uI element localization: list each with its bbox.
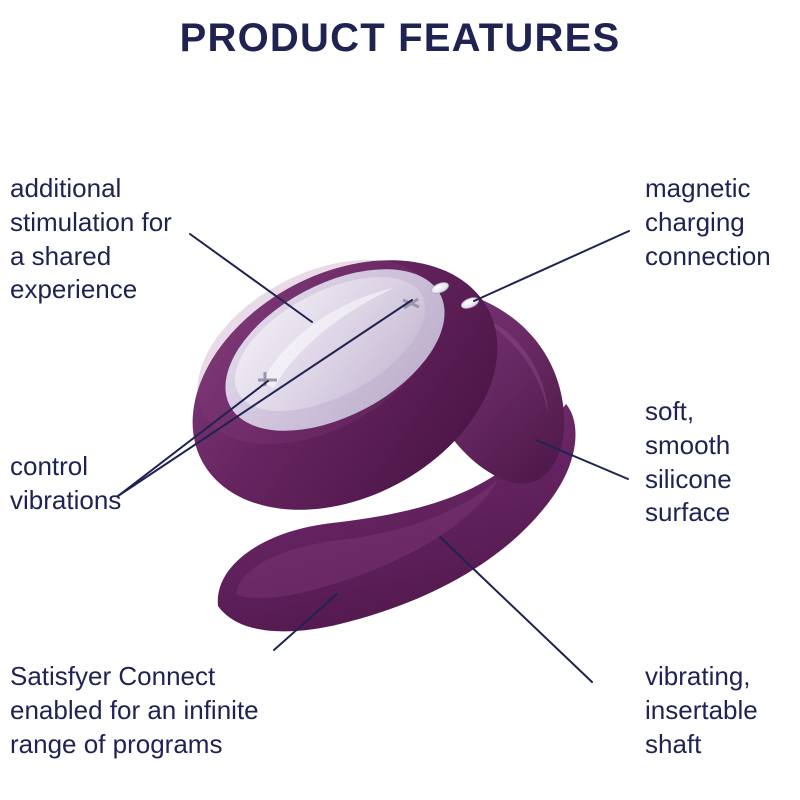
- callout-satisfyer-connect: Satisfyer Connect enabled for an infinit…: [10, 660, 340, 761]
- callout-vibrating-shaft: vibrating, insertable shaft: [645, 660, 800, 761]
- callout-additional-stimulation: additional stimulation for a shared expe…: [10, 172, 260, 307]
- callout-control-vibrations: control vibrations: [10, 450, 240, 518]
- callout-silicone-surface: soft, smooth silicone surface: [645, 395, 800, 530]
- callout-magnetic-charging: magnetic charging connection: [645, 172, 800, 273]
- product-features-page: PRODUCT FEATURES: [0, 0, 800, 800]
